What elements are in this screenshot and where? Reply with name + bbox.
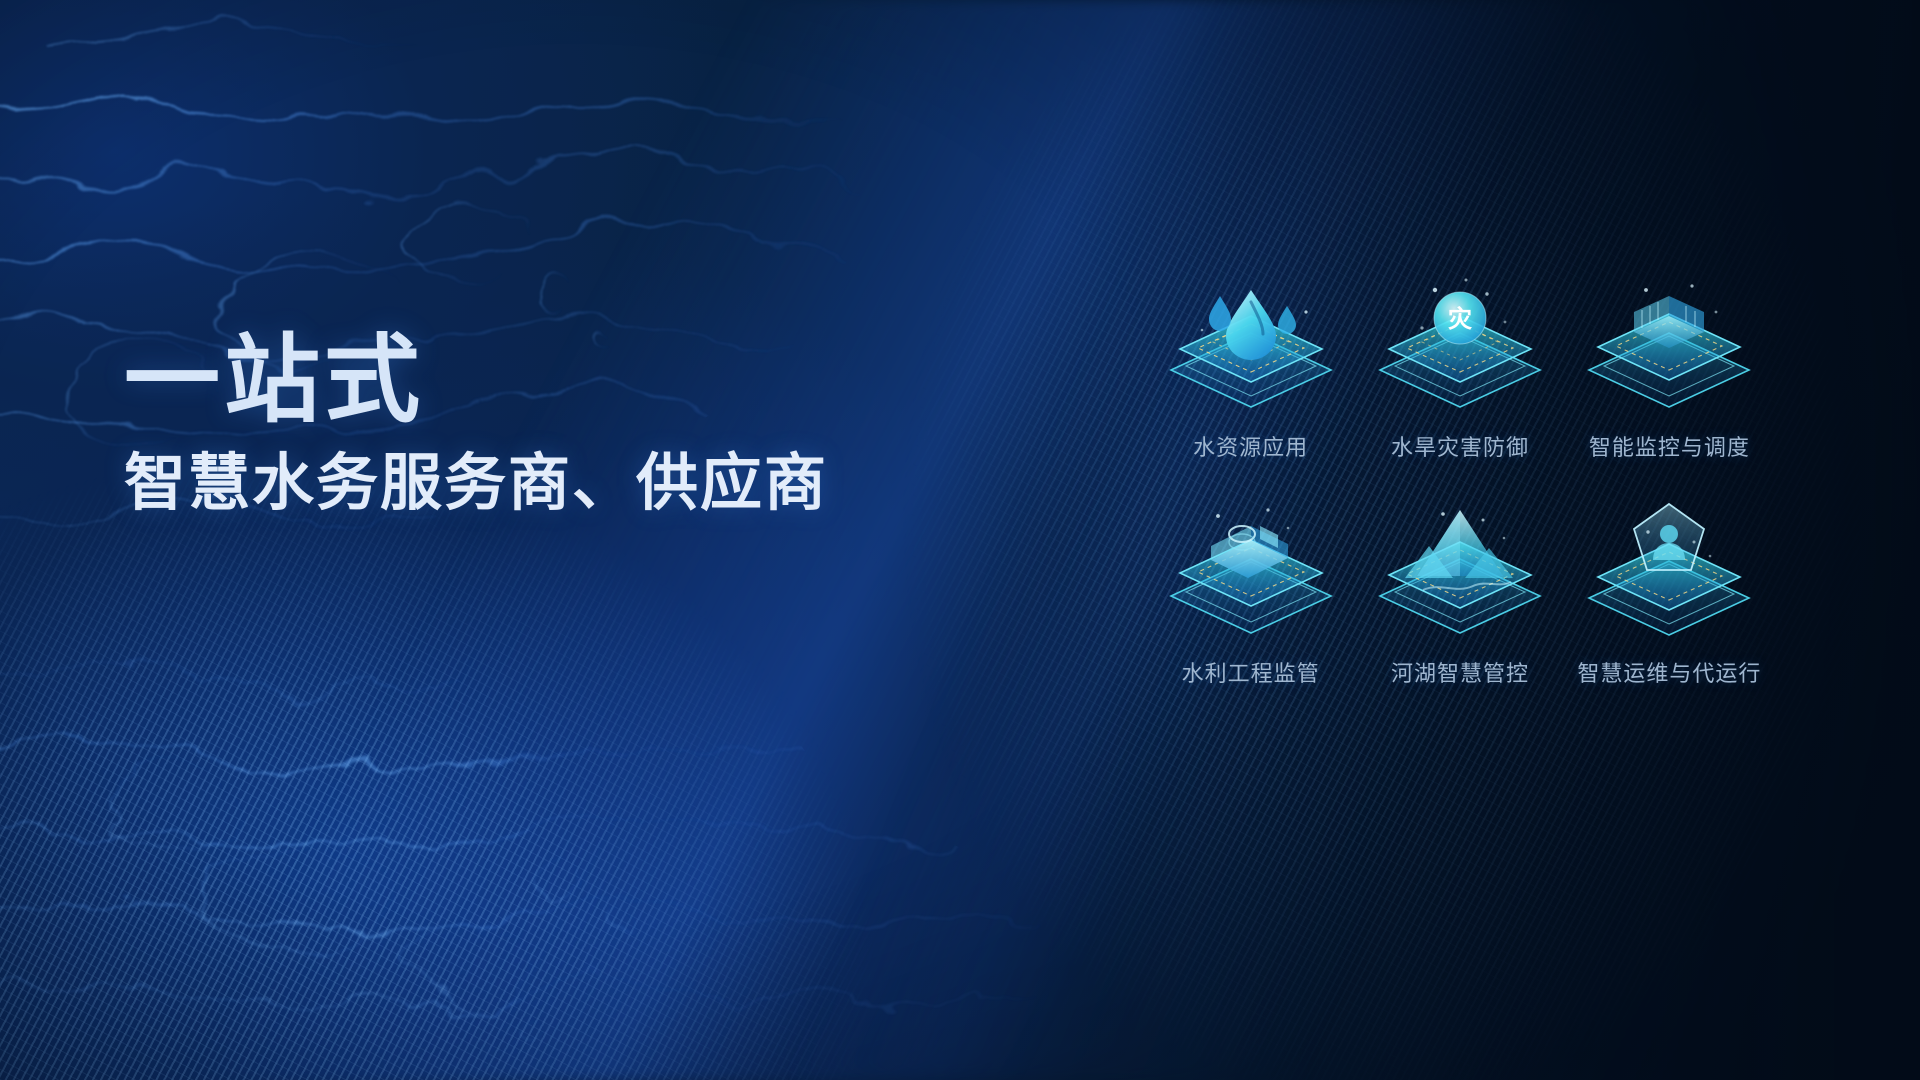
page-title: 一站式 [124, 330, 828, 432]
water-drop-icon [1156, 272, 1346, 422]
slide-canvas: 一站式 智慧水务服务商、供应商 [0, 0, 1920, 1080]
page-subtitle: 智慧水务服务商、供应商 [124, 450, 828, 518]
capability-label: 河湖智慧管控 [1391, 656, 1529, 688]
capability-item-smart-ops[interactable]: 智慧运维与代运行 [1569, 498, 1770, 724]
hero-text-block: 一站式 智慧水务服务商、供应商 [124, 330, 828, 518]
capability-item-water-resource[interactable]: 水资源应用 [1150, 272, 1351, 498]
capability-item-flood-drought[interactable]: 灾 水旱灾害防御 [1359, 272, 1560, 498]
shield-ops-icon [1574, 498, 1764, 648]
capability-item-smart-monitor[interactable]: 智能监控与调度 [1569, 272, 1770, 498]
mountain-river-icon [1365, 498, 1555, 648]
capability-label: 水资源应用 [1193, 430, 1308, 462]
disaster-badge-char: 灾 [1448, 305, 1472, 333]
capability-label: 水利工程监管 [1182, 656, 1320, 688]
monitor-dam-icon [1574, 272, 1764, 422]
capability-label: 智能监控与调度 [1589, 430, 1750, 462]
capability-grid: 水资源应用 [1150, 272, 1770, 724]
capability-item-project-supervision[interactable]: 水利工程监管 [1150, 498, 1351, 724]
capability-label: 水旱灾害防御 [1391, 430, 1529, 462]
disaster-sphere-icon: 灾 [1365, 272, 1555, 422]
pipeline-icon [1156, 498, 1346, 648]
capability-label: 智慧运维与代运行 [1577, 656, 1761, 688]
capability-item-river-lake-control[interactable]: 河湖智慧管控 [1359, 498, 1560, 724]
